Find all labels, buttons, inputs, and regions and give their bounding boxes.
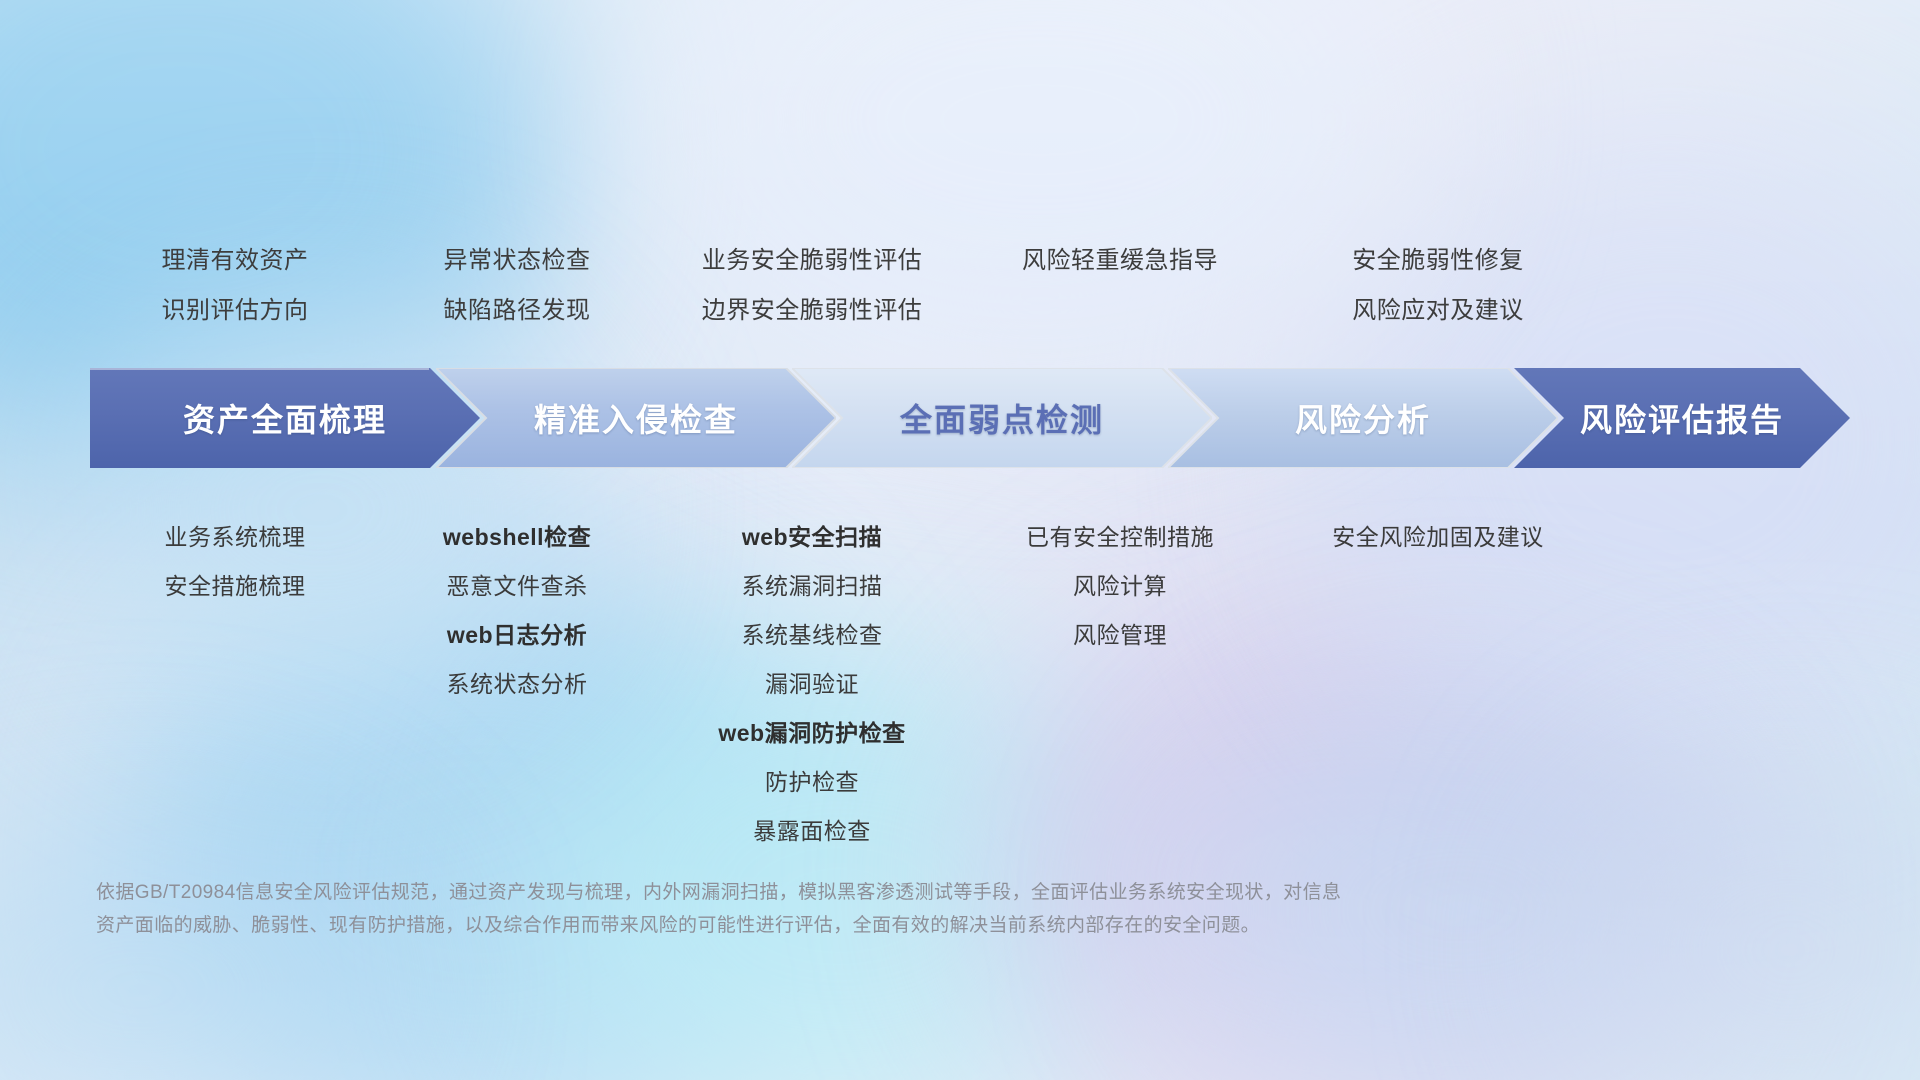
stage-inputs-5: 安全脆弱性修复 风险应对及建议 <box>1268 236 1608 336</box>
chevron-stage-3[interactable]: 全面弱点检测 <box>792 368 1212 468</box>
stage-output-item: 恶意文件查杀 <box>352 562 682 611</box>
stage-input-item: 异常状态检查 <box>352 236 682 286</box>
stage-outputs-4: 已有安全控制措施 风险计算 风险管理 <box>950 513 1290 660</box>
chevron-stage-1[interactable]: 资产全面梳理 <box>90 368 480 468</box>
stage-outputs-3: web安全扫描 系统漏洞扫描 系统基线检查 漏洞验证 web漏洞防护检查 防护检… <box>642 513 982 856</box>
chevron-stage-4[interactable]: 风险分析 <box>1168 368 1558 468</box>
stage-output-item: 业务系统梳理 <box>70 513 400 562</box>
stage-output-item: 漏洞验证 <box>642 660 982 709</box>
stage-output-item: 安全措施梳理 <box>70 562 400 611</box>
stage-output-item: 系统漏洞扫描 <box>642 562 982 611</box>
stage-input-item: 风险应对及建议 <box>1268 286 1608 336</box>
chevron-label-1: 资产全面梳理 <box>183 395 387 441</box>
stage-output-item: webshell检查 <box>352 513 682 562</box>
stage-output-item: 系统基线检查 <box>642 611 982 660</box>
stage-inputs-1: 理清有效资产 识别评估方向 <box>70 236 400 336</box>
chevron-label-5: 风险评估报告 <box>1580 395 1784 441</box>
stage-output-item: 风险管理 <box>950 611 1290 660</box>
stage-input-item: 缺陷路径发现 <box>352 286 682 336</box>
slide-canvas: 理清有效资产 识别评估方向 异常状态检查 缺陷路径发现 业务安全脆弱性评估 边界… <box>0 0 1920 1080</box>
chevron-stage-5[interactable]: 风险评估报告 <box>1514 368 1850 468</box>
chevron-stage-2[interactable]: 精准入侵检查 <box>436 368 836 468</box>
stage-input-item: 业务安全脆弱性评估 <box>642 236 982 286</box>
process-chevron-band: 资产全面梳理 精准入 <box>90 368 1850 468</box>
footer-description: 依据GB/T20984信息安全风险评估规范，通过资产发现与梳理，内外网漏洞扫描，… <box>96 876 1696 942</box>
stage-input-item: 边界安全脆弱性评估 <box>642 286 982 336</box>
chevron-label-2: 精准入侵检查 <box>534 395 738 441</box>
stage-inputs-4: 风险轻重缓急指导 <box>950 236 1290 286</box>
stage-inputs-2: 异常状态检查 缺陷路径发现 <box>352 236 682 336</box>
stage-inputs-3: 业务安全脆弱性评估 边界安全脆弱性评估 <box>642 236 982 336</box>
stage-output-item: 风险计算 <box>950 562 1290 611</box>
stage-output-item: web漏洞防护检查 <box>642 709 982 758</box>
stage-output-item: 已有安全控制措施 <box>950 513 1290 562</box>
stage-output-item: 暴露面检查 <box>642 807 982 856</box>
stage-output-item: web日志分析 <box>352 611 682 660</box>
stage-input-item: 安全脆弱性修复 <box>1268 236 1608 286</box>
stage-output-item: 安全风险加固及建议 <box>1268 513 1608 562</box>
stage-outputs-1: 业务系统梳理 安全措施梳理 <box>70 513 400 611</box>
stage-input-item: 识别评估方向 <box>70 286 400 336</box>
stage-output-item: 防护检查 <box>642 758 982 807</box>
stage-output-item: 系统状态分析 <box>352 660 682 709</box>
stage-input-item: 理清有效资产 <box>70 236 400 286</box>
footer-line-1: 依据GB/T20984信息安全风险评估规范，通过资产发现与梳理，内外网漏洞扫描，… <box>96 876 1696 909</box>
stage-outputs-5: 安全风险加固及建议 <box>1268 513 1608 562</box>
stage-outputs-2: webshell检查 恶意文件查杀 web日志分析 系统状态分析 <box>352 513 682 709</box>
chevron-label-4: 风险分析 <box>1295 395 1431 441</box>
stage-output-item: web安全扫描 <box>642 513 982 562</box>
chevron-label-3: 全面弱点检测 <box>900 395 1104 441</box>
stage-input-item: 风险轻重缓急指导 <box>950 236 1290 286</box>
footer-line-2: 资产面临的威胁、脆弱性、现有防护措施，以及综合作用而带来风险的可能性进行评估，全… <box>96 909 1696 942</box>
